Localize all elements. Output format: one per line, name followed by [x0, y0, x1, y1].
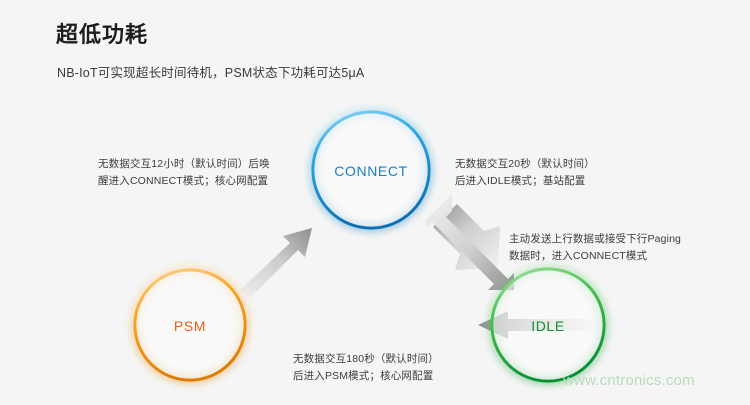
- annotation-idle-to-connect: 主动发送上行数据或接受下行Paging 数据时，进入CONNECT模式: [509, 231, 681, 266]
- node-circle-idle[interactable]: [492, 269, 604, 381]
- node-circle-connect[interactable]: [313, 112, 429, 228]
- slide-canvas: 超低功耗 NB-IoT可实现超长时间待机，PSM状态下功耗可达5μA: [0, 0, 750, 405]
- arrow-connect-idle: [426, 194, 514, 290]
- annotation-idle-to-psm: 无数据交互180秒（默认时间） 后进入PSM模式；核心网配置: [293, 351, 439, 386]
- annotation-connect-to-idle: 无数据交互20秒（默认时间） 后进入IDLE模式；基站配置: [455, 156, 595, 191]
- annotation-psm-to-connect: 无数据交互12小时（默认时间）后唤 醒进入CONNECT模式；核心网配置: [98, 156, 270, 191]
- node-circle-psm[interactable]: [135, 270, 245, 380]
- arrow-psm-to-connect: [240, 228, 312, 298]
- watermark: www.cntronics.com: [563, 372, 695, 389]
- state-diagram: [0, 0, 750, 405]
